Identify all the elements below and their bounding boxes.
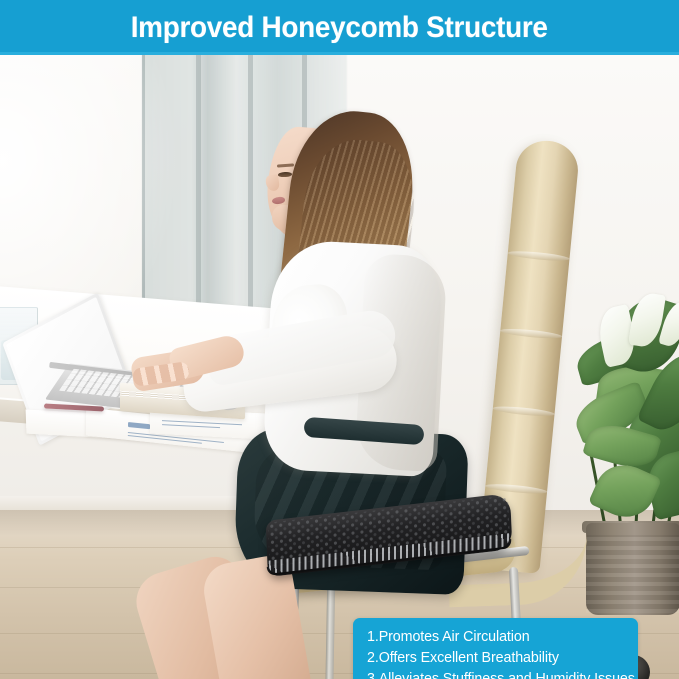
header-banner: Improved Honeycomb Structure: [0, 0, 679, 55]
chair-back-seam: [500, 327, 562, 340]
plant-pot-texture: [586, 535, 679, 613]
feature-list-box: 1.Promotes Air Circulation 2.Offers Exce…: [353, 618, 638, 679]
page-title: Improved Honeycomb Structure: [131, 13, 548, 43]
feature-item-3: 3.Alleviates Stuffiness and Humidity Iss…: [367, 669, 634, 679]
paper-chart-line: [162, 424, 220, 428]
chair-back-seam: [485, 482, 547, 495]
chair-back-seam: [492, 405, 554, 418]
feature-item-1: 1.Promotes Air Circulation: [367, 627, 634, 648]
feature-item-2: 2.Offers Excellent Breathability: [367, 648, 634, 669]
window-mullion: [196, 55, 201, 339]
paper-chart-bar: [128, 422, 150, 429]
chair-back-seam: [507, 250, 569, 263]
product-feature-image: Improved Honeycomb Structure: [0, 0, 679, 679]
window-mullion: [248, 55, 253, 339]
product-photo: 1.Promotes Air Circulation 2.Offers Exce…: [0, 55, 679, 679]
